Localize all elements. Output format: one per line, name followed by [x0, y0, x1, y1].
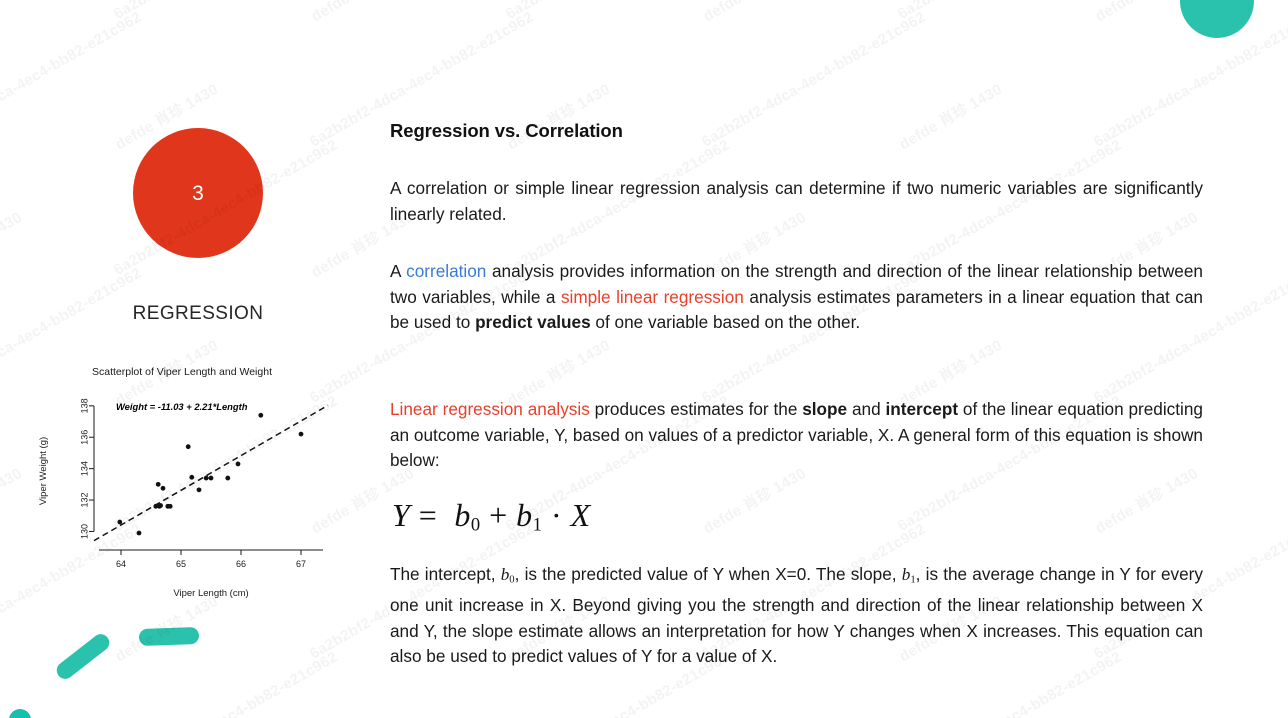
equation-equals: =: [419, 497, 438, 533]
paragraph-intro: A correlation or simple linear regressio…: [390, 176, 1203, 227]
regression-fit-line: [94, 405, 328, 540]
scatter-point: [156, 482, 161, 487]
y-tick-label: 132: [79, 493, 89, 508]
y-tick-label: 136: [79, 430, 89, 445]
paragraph-slope-intercept: Linear regression analysis produces esti…: [390, 397, 1203, 474]
scatter-point: [209, 476, 214, 481]
scatter-point: [117, 520, 122, 525]
p2-text-a: A: [390, 261, 406, 281]
equation-plus: +: [489, 497, 508, 533]
paragraph-correlation-vs-regression: A correlation analysis provides informat…: [390, 259, 1203, 336]
section-number: 3: [192, 183, 204, 204]
term-intercept: intercept: [885, 399, 958, 419]
equation-b1-subscript: 1: [533, 515, 543, 536]
page-title: Regression vs. Correlation: [390, 120, 623, 142]
section-title: REGRESSION: [0, 303, 396, 325]
left-column: 3 REGRESSION Scatterplot of Viper Length…: [0, 0, 360, 718]
scatter-point: [186, 444, 191, 449]
equation-b0: b: [454, 497, 471, 533]
y-tick-label: 134: [79, 461, 89, 476]
y-axis-title: Viper Weight (g): [38, 437, 49, 505]
section-number-badge: 3: [133, 128, 263, 258]
regression-equation-annotation: Weight = -11.03 + 2.21*Length: [116, 401, 248, 412]
p3-text-a: produces estimates for the: [590, 399, 802, 419]
scatter-point: [299, 432, 304, 437]
scatter-point: [236, 462, 241, 467]
p4-b0: b0: [501, 565, 515, 584]
x-axis-title: Viper Length (cm): [173, 588, 248, 599]
term-simple-linear-regression: simple linear regression: [561, 287, 744, 307]
chart-svg: 13013213413613864656667Viper Length (cm)…: [22, 362, 342, 614]
equation-b1: b: [516, 497, 533, 533]
equation-rhs: X: [571, 497, 591, 533]
regression-equation: Y = b0 + b1 · X: [392, 497, 591, 537]
equation-b0-subscript: 0: [471, 515, 481, 536]
p2-text-d: of one variable based on the other.: [591, 312, 860, 332]
equation-dot: ·: [551, 497, 562, 533]
term-correlation: correlation: [406, 261, 486, 281]
paragraph-interpretation: The intercept, b0, is the predicted valu…: [390, 562, 1203, 670]
scatter-point: [197, 487, 202, 492]
term-slope: slope: [802, 399, 847, 419]
p4-text-a: The intercept,: [390, 564, 501, 584]
p4-b0-letter: b: [501, 565, 510, 584]
content-column: Regression vs. Correlation A correlation…: [390, 0, 1205, 718]
scatter-point: [158, 503, 163, 508]
scatter-point: [161, 486, 166, 491]
p4-b1: b1: [902, 565, 916, 584]
scatter-point: [204, 476, 209, 481]
teal-dash-diagonal-decoration: [53, 631, 112, 683]
teal-dash-horizontal-decoration: [139, 627, 200, 646]
x-tick-label: 66: [236, 559, 246, 569]
p4-text-b: , is the predicted value of Y when X=0. …: [515, 564, 902, 584]
scatter-point: [258, 413, 263, 418]
term-predict-values: predict values: [475, 312, 591, 332]
scatter-point: [225, 476, 230, 481]
y-tick-label: 130: [79, 524, 89, 539]
scatter-point: [189, 475, 194, 480]
scatterplot-figure: Scatterplot of Viper Length and Weight 1…: [22, 362, 342, 614]
term-linear-regression-analysis: Linear regression analysis: [390, 399, 590, 419]
slide-canvas: 3 REGRESSION Scatterplot of Viper Length…: [0, 0, 1288, 718]
y-tick-label: 138: [79, 398, 89, 413]
scatter-point: [137, 531, 142, 536]
scatter-point: [168, 504, 173, 509]
p3-text-b: and: [847, 399, 885, 419]
equation-lhs: Y: [392, 497, 410, 533]
x-tick-label: 67: [296, 559, 306, 569]
x-tick-label: 64: [116, 559, 126, 569]
x-tick-label: 65: [176, 559, 186, 569]
